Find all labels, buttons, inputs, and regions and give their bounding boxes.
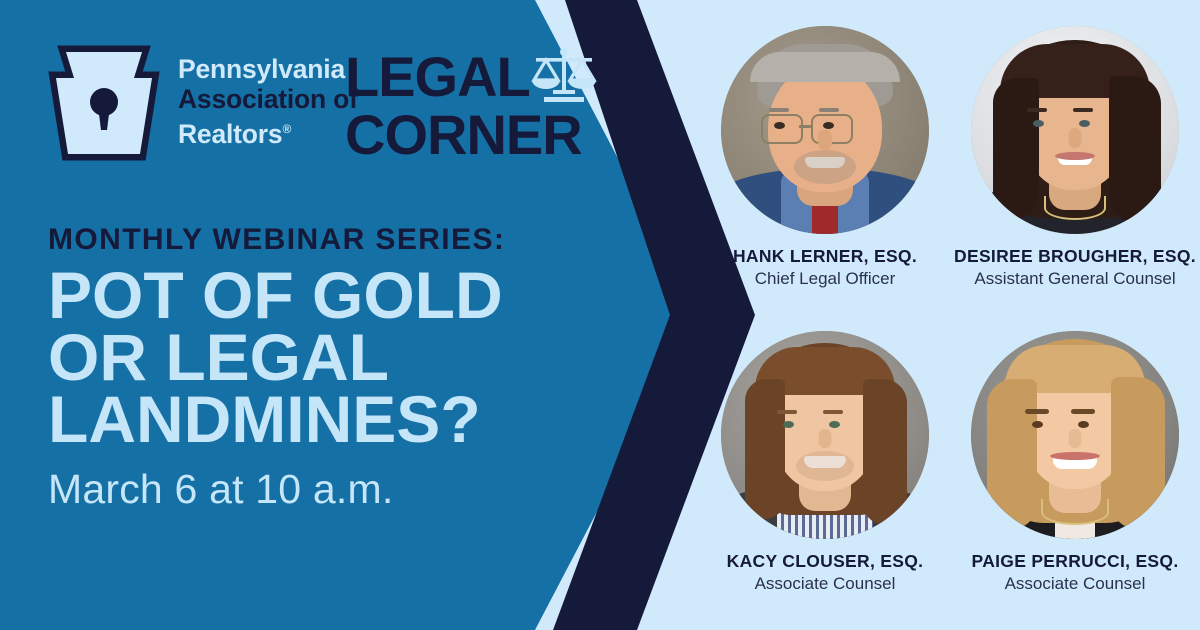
headshot-paige-perrucci [971,331,1179,539]
speaker-name: KACY CLOUSER, ESQ. [727,551,924,572]
headshot-hank-lerner [721,26,929,234]
event-date: March 6 at 10 a.m. [48,466,648,512]
org-line-3: Realtors [178,119,282,149]
eyebrow-text: MONTHLY WEBINAR SERIES: [48,222,648,258]
corner-word: CORNER [345,110,582,160]
speaker-name: PAIGE PERRUCCI, ESQ. [972,551,1179,572]
headshot-kacy-clouser [721,331,929,539]
legal-corner-logo: LEGAL CORNER [345,52,602,160]
speaker-name: DESIREE BROUGHER, ESQ. [954,246,1196,267]
title-line-3: LANDMINES? [48,388,648,450]
speaker-title: Chief Legal Officer [755,269,895,289]
par-wordmark: Pennsylvania Association of Realtors® [178,44,358,149]
speaker-title: Associate Counsel [755,574,896,594]
speaker-card: KACY CLOUSER, ESQ. Associate Counsel [700,315,950,594]
speaker-title: Assistant General Counsel [974,269,1175,289]
org-line-2: Association of [178,84,358,114]
registered-mark: ® [282,122,291,136]
keystone-lock-icon [48,44,160,162]
title-line-1: POT OF GOLD [48,264,648,326]
speaker-card: HANK LERNER, ESQ. Chief Legal Officer [700,0,950,289]
page-title: POT OF GOLD OR LEGAL LANDMINES? [48,264,648,450]
speaker-name: HANK LERNER, ESQ. [733,246,917,267]
headshot-desiree-brougher [971,26,1179,234]
title-line-2: OR LEGAL [48,326,648,388]
legal-word: LEGAL [345,52,530,102]
scales-of-justice-icon [526,46,602,104]
par-logo: Pennsylvania Association of Realtors® [48,44,358,162]
promo-graphic: Pennsylvania Association of Realtors® LE… [0,0,1200,630]
speaker-card: DESIREE BROUGHER, ESQ. Assistant General… [950,0,1200,289]
speaker-title: Associate Counsel [1005,574,1146,594]
headline-block: MONTHLY WEBINAR SERIES: POT OF GOLD OR L… [48,222,648,512]
speakers-grid: HANK LERNER, ESQ. Chief Legal Officer [700,0,1200,630]
speaker-card: PAIGE PERRUCCI, ESQ. Associate Counsel [950,315,1200,594]
org-line-1: Pennsylvania [178,54,358,84]
